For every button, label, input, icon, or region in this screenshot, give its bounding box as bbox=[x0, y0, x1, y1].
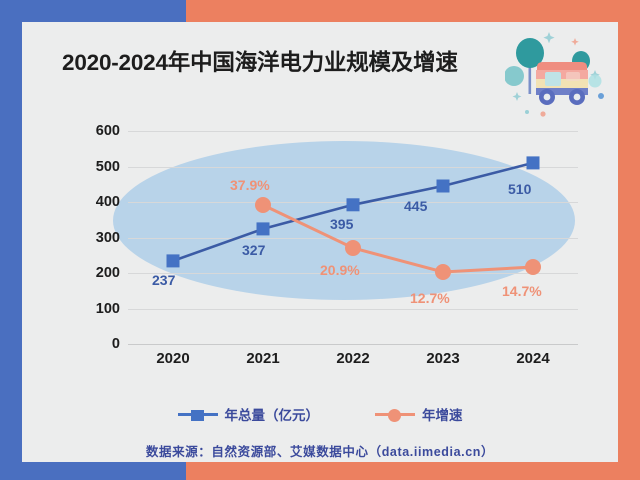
x-tick-2023: 2023 bbox=[398, 350, 488, 367]
x-tick-2020: 2020 bbox=[128, 350, 218, 367]
food-truck-illustration bbox=[505, 26, 615, 121]
x-tick-2024: 2024 bbox=[488, 350, 578, 367]
source-note: 数据来源：自然资源部、艾媒数据中心（data.iimedia.cn） bbox=[0, 441, 640, 460]
slide-canvas: 2020-2024年中国海洋电力业规模及增速 bbox=[0, 0, 640, 480]
legend-item-growth[interactable]: 年增速 bbox=[375, 404, 463, 424]
data-label-total-2023: 445 bbox=[404, 198, 427, 214]
data-label-total-2021: 327 bbox=[242, 242, 265, 258]
gridline-500 bbox=[128, 167, 578, 168]
legend-label-growth: 年增速 bbox=[422, 404, 463, 424]
data-label-total-2024: 510 bbox=[508, 181, 531, 197]
x-tick-2022: 2022 bbox=[308, 350, 398, 367]
y-tick-100: 100 bbox=[74, 301, 120, 317]
data-label-growth-2022: 20.9% bbox=[320, 262, 360, 278]
square-marker-icon bbox=[178, 407, 218, 421]
legend-label-total: 年总量（亿元） bbox=[225, 404, 320, 424]
y-tick-600: 600 bbox=[74, 123, 120, 139]
gridline-300 bbox=[128, 238, 578, 239]
chart-legend: 年总量（亿元） 年增速 bbox=[0, 404, 640, 424]
y-tick-200: 200 bbox=[74, 265, 120, 281]
x-tick-2021: 2021 bbox=[218, 350, 308, 367]
accent-bar-top-left bbox=[0, 0, 186, 24]
gridline-100 bbox=[128, 309, 578, 310]
legend-item-total[interactable]: 年总量（亿元） bbox=[178, 404, 320, 424]
data-label-growth-2024: 14.7% bbox=[502, 283, 542, 299]
page-title: 2020-2024年中国海洋电力业规模及增速 bbox=[62, 45, 458, 77]
y-tick-0: 0 bbox=[74, 336, 120, 352]
y-tick-500: 500 bbox=[74, 159, 120, 175]
gridline-400 bbox=[128, 202, 578, 203]
data-label-total-2020: 237 bbox=[152, 272, 175, 288]
y-tick-400: 400 bbox=[74, 194, 120, 210]
data-label-growth-2021: 37.9% bbox=[230, 177, 270, 193]
gridline-600 bbox=[128, 131, 578, 132]
data-label-total-2022: 395 bbox=[330, 216, 353, 232]
axis-baseline bbox=[128, 344, 578, 345]
data-label-growth-2023: 12.7% bbox=[410, 290, 450, 306]
y-tick-300: 300 bbox=[74, 230, 120, 246]
circle-marker-icon bbox=[375, 407, 415, 421]
